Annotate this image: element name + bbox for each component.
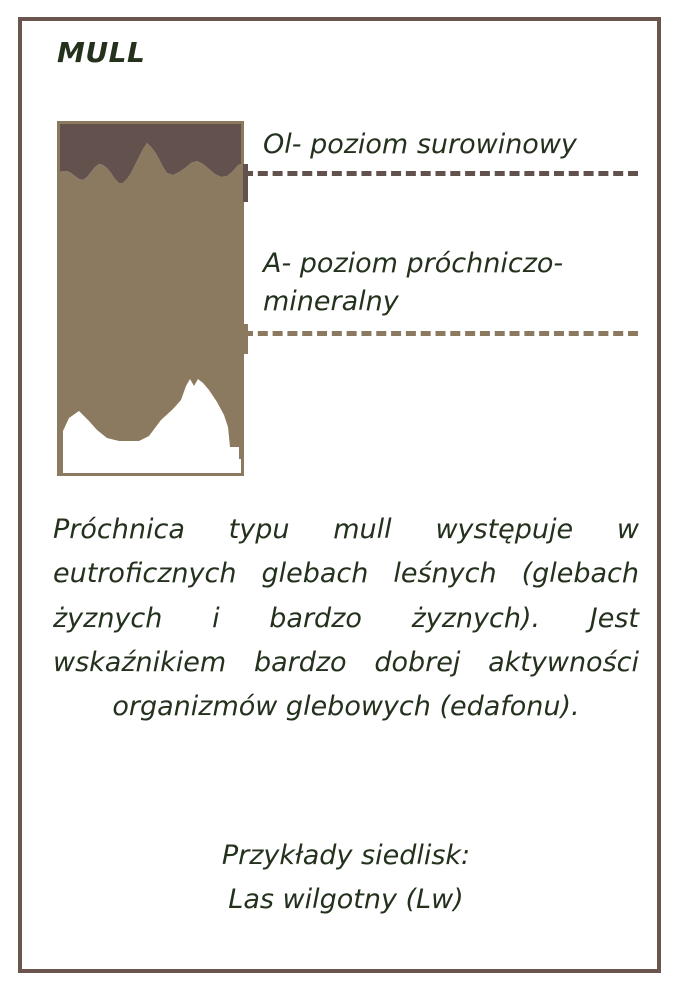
- horizon-label-a: A- poziom próchniczo- mineralny: [263, 245, 563, 322]
- a-leader-tick: [243, 324, 248, 354]
- soil-profile-diagram: [57, 121, 244, 476]
- page-title: MULL: [57, 36, 145, 69]
- ol-leader-dashed-line: [243, 171, 638, 176]
- description-paragraph: Próchnica typu mull występuje w eutrofic…: [53, 508, 639, 729]
- ol-leader-tick: [243, 164, 248, 202]
- horizon-label-ol: Ol- poziom surowinowy: [263, 126, 577, 164]
- habitat-examples-heading: Przykłady siedlisk:: [53, 834, 639, 878]
- soil-humus-card: MULL Ol- poziom surowinowy A- poziom pró…: [0, 0, 689, 1000]
- soil-profile-svg: [57, 121, 244, 476]
- a-leader-dashed-line: [243, 331, 638, 336]
- habitat-example-item: Las wilgotny (Lw): [53, 878, 639, 922]
- habitat-examples: Przykłady siedlisk: Las wilgotny (Lw): [53, 834, 639, 921]
